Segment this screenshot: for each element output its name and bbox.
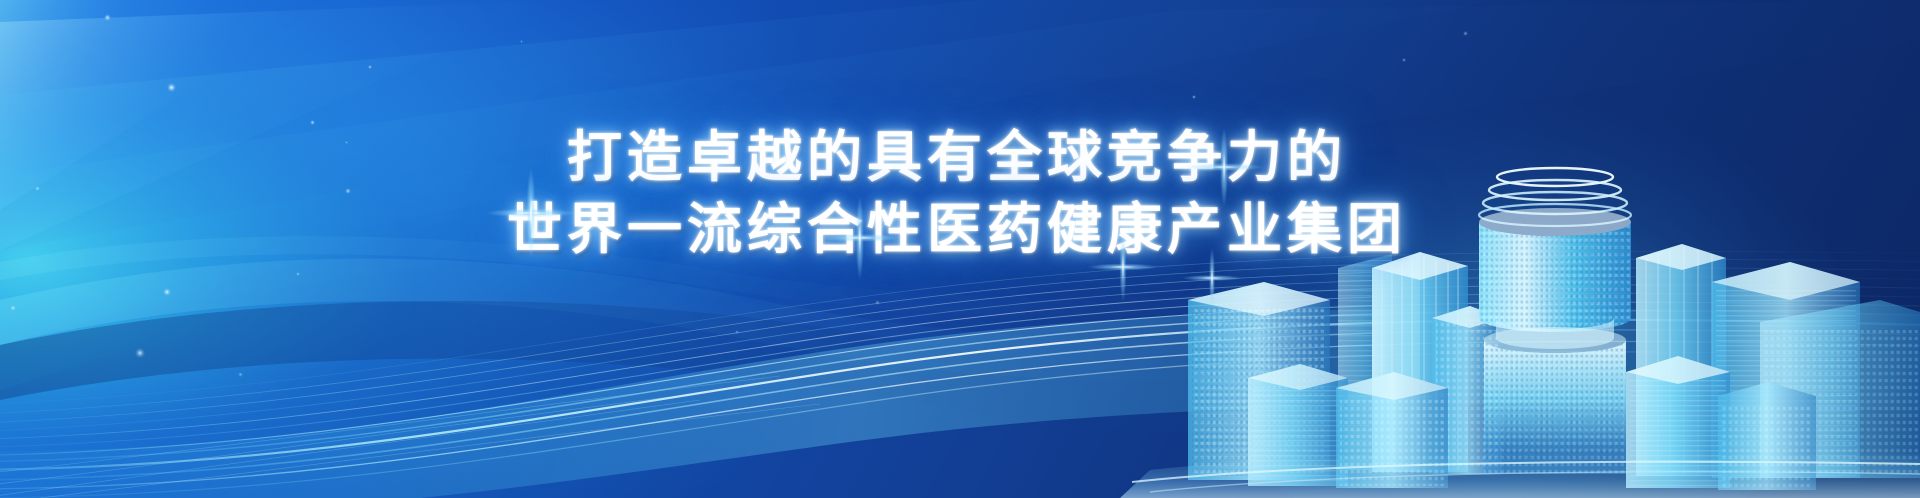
- lens-sparkle: [1182, 248, 1242, 308]
- sparkle-layer: [0, 0, 1920, 498]
- lens-sparkle: [1088, 232, 1158, 302]
- hero-banner: 打造卓越的具有全球竞争力的 世界一流综合性医药健康产业集团: [0, 0, 1920, 498]
- lens-sparkle: [486, 168, 576, 258]
- lens-sparkle: [1185, 128, 1263, 206]
- lens-sparkle: [818, 196, 902, 280]
